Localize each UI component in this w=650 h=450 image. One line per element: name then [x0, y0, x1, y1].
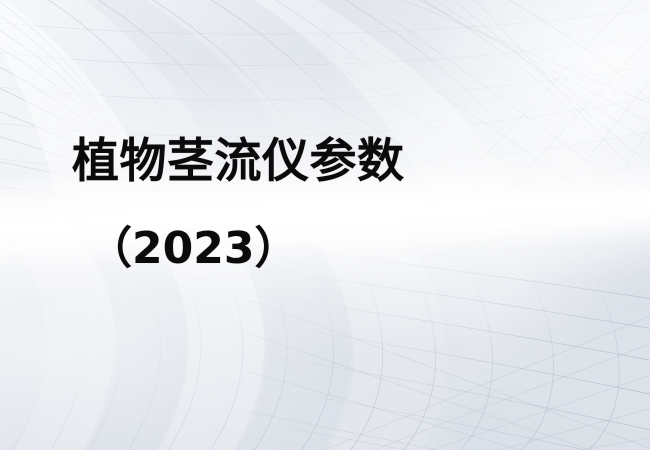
title-text-block: 植物茎流仪参数 （2023）: [0, 0, 650, 450]
slide-title-line-1: 植物茎流仪参数: [72, 138, 405, 185]
slide-title-line-2: （2023）: [88, 227, 298, 271]
title-slide: 植物茎流仪参数 （2023）: [0, 0, 650, 450]
